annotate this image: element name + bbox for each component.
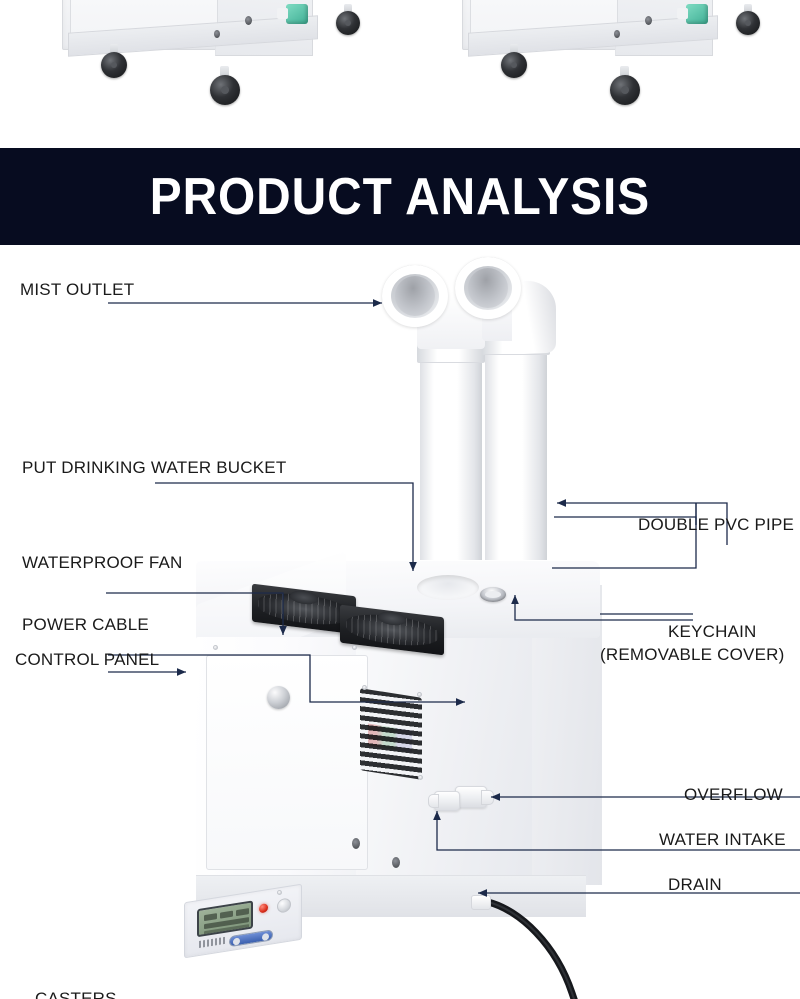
photo-drain-valve-icon	[686, 4, 708, 24]
photo-body-hole	[245, 16, 252, 25]
label-double-pvc-pipe: DOUBLE PVC PIPE	[638, 515, 794, 535]
label-power-cable: POWER CABLE	[22, 615, 149, 635]
photo-caster	[210, 75, 240, 105]
photo-body-hole	[214, 30, 220, 38]
label-water-intake: WATER INTAKE	[659, 830, 786, 850]
photo-body-hole	[645, 16, 652, 25]
page-title: PRODUCT ANALYSIS	[150, 171, 650, 223]
label-casters: CASTERS	[35, 989, 117, 999]
label-overflow: OVERFLOW	[684, 785, 783, 805]
label-mist-outlet: MIST OUTLET	[20, 280, 134, 300]
product-photo-left[interactable]	[0, 0, 400, 148]
page-banner: PRODUCT ANALYSIS	[0, 148, 800, 245]
product-photo-strip	[0, 0, 800, 148]
label-waterproof-fan: WATERPROOF FAN	[22, 553, 183, 573]
product-analysis-page: PRODUCT ANALYSIS	[0, 0, 800, 999]
photo-caster	[101, 52, 127, 78]
label-keychain: KEYCHAIN	[668, 622, 757, 642]
photo-caster	[736, 11, 760, 35]
photo-body-hole	[614, 30, 620, 38]
product-photo-right[interactable]	[400, 0, 800, 148]
photo-caster	[501, 52, 527, 78]
power-cable-connector	[471, 895, 491, 910]
label-drain: DRAIN	[668, 875, 722, 895]
product-diagram: MIST OUTLET PUT DRINKING WATER BUCKET DO…	[0, 245, 800, 999]
photo-drain-valve-icon	[286, 4, 308, 24]
photo-caster	[336, 11, 360, 35]
photo-caster	[610, 75, 640, 105]
label-control-panel: CONTROL PANEL	[15, 650, 159, 670]
label-keychain-sub: (REMOVABLE COVER)	[600, 645, 784, 665]
label-put-drinking-water-bucket: PUT DRINKING WATER BUCKET	[22, 458, 286, 478]
